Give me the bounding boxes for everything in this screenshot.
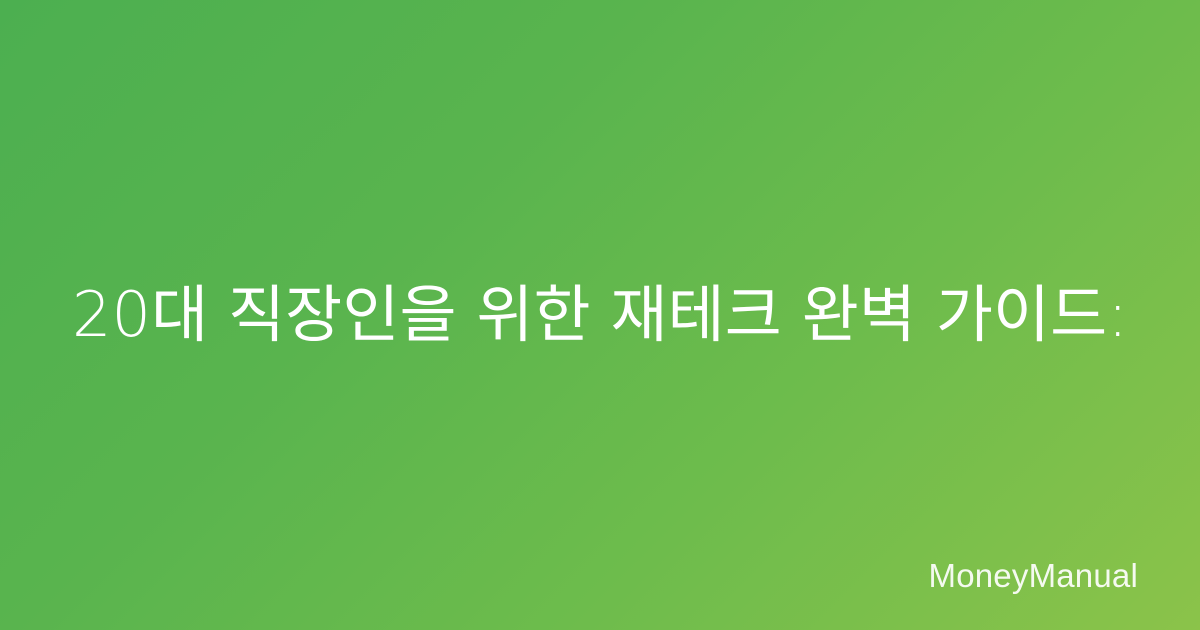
title-container: 20대 직장인을 위한 재테크 완벽 가이드:: [0, 0, 1200, 630]
page-title: 20대 직장인을 위한 재테크 완벽 가이드:: [72, 277, 1128, 353]
brand-watermark: MoneyManual: [929, 559, 1138, 592]
social-share-card: 20대 직장인을 위한 재테크 완벽 가이드: MoneyManual: [0, 0, 1200, 630]
